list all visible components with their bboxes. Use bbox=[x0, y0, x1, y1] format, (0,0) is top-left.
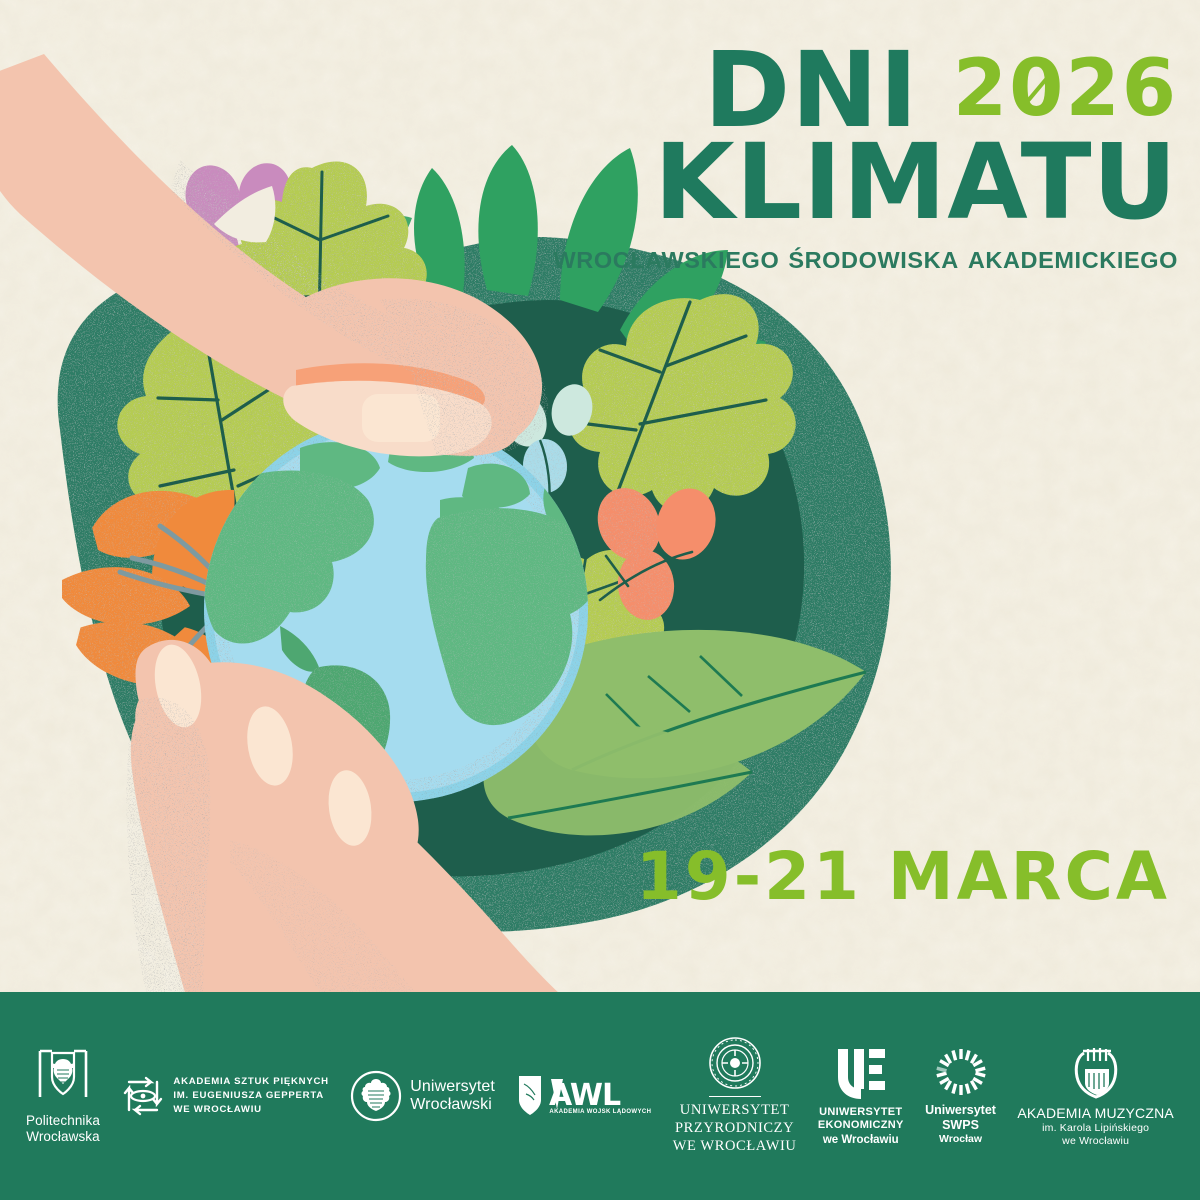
logo-ue-line-3: we Wrocławiu bbox=[818, 1133, 904, 1147]
ue-monogram-icon bbox=[832, 1045, 890, 1101]
subtitle: WROCŁAWSKIEGOŚRODOWISKAAKADEMICKIEGO bbox=[538, 247, 1178, 274]
logo-akademia-sztuk-pieknych[interactable]: AKADEMIA SZTUK PIĘKNYCH IM. EUGENIUSZA G… bbox=[121, 1073, 328, 1119]
logo-asp-line-1: AKADEMIA SZTUK PIĘKNYCH bbox=[173, 1075, 328, 1089]
title-year: 2026 bbox=[953, 58, 1178, 122]
logo-upw-divider bbox=[709, 1096, 761, 1097]
year-digit-3: 2 bbox=[1065, 44, 1121, 134]
logo-swps-text: Uniwersytet SWPS Wrocław bbox=[925, 1103, 996, 1146]
logo-upw-text: UNIWERSYTET PRZYRODNICZY WE WROCŁAWIU bbox=[673, 1102, 797, 1155]
poster-canvas: DNI 2026 KLIMATU WROCŁAWSKIEGOŚRODOWISKA… bbox=[0, 0, 1200, 1200]
logo-politechnika-wroclawska[interactable]: Politechnika Wrocławska bbox=[26, 1047, 100, 1145]
logo-asp-line-3: WE WROCŁAWIU bbox=[173, 1103, 328, 1117]
eagle-shield-icon bbox=[36, 1047, 90, 1107]
year-digit-1: 2 bbox=[953, 44, 1009, 134]
awl-wordmark: AWL bbox=[549, 1077, 649, 1113]
logo-uniwersytet-swps[interactable]: Uniwersytet SWPS Wrocław bbox=[925, 1046, 996, 1146]
logo-politechnika-text: Politechnika Wrocławska bbox=[26, 1113, 100, 1145]
crest-circle-icon bbox=[350, 1070, 402, 1122]
swps-ring-icon bbox=[935, 1046, 987, 1098]
logo-akademia-muzyczna[interactable]: AKADEMIA MUZYCZNA im. Karola Lipińskiego… bbox=[1017, 1043, 1174, 1148]
subtitle-word-3: AKADEMICKIEGO bbox=[968, 247, 1178, 273]
arrows-eye-icon bbox=[121, 1073, 165, 1119]
headline-block: DNI 2026 KLIMATU WROCŁAWSKIEGOŚRODOWISKA… bbox=[538, 48, 1178, 274]
logo-politechnika-line-1: Politechnika bbox=[26, 1113, 100, 1129]
event-date: 19-21 MARCA bbox=[636, 838, 1170, 915]
logo-asp-text: AKADEMIA SZTUK PIĘKNYCH IM. EUGENIUSZA G… bbox=[173, 1075, 328, 1117]
logo-am-text: AKADEMIA MUZYCZNA im. Karola Lipińskiego… bbox=[1017, 1105, 1174, 1148]
partner-logos: Politechnika Wrocławska AKADEMIA SZTUK P… bbox=[0, 992, 1200, 1200]
logo-awl-caption: AKADEMIA WOJSK LĄDOWYCH bbox=[549, 1109, 651, 1115]
seal-circle-icon bbox=[708, 1036, 762, 1090]
logo-uniwersytet-wroclawski[interactable]: Uniwersytet Wrocławski bbox=[350, 1070, 495, 1122]
year-digit-4: 6 bbox=[1122, 44, 1178, 134]
year-digit-2: 0 bbox=[1009, 58, 1065, 122]
logo-swps-line-2: SWPS bbox=[925, 1118, 996, 1133]
subtitle-word-2: ŚRODOWISKA bbox=[788, 247, 959, 273]
logo-upw-line-2: PRZYRODNICZY bbox=[673, 1120, 797, 1138]
logo-uwr-line-1: Uniwersytet bbox=[410, 1078, 495, 1096]
logo-asp-line-2: IM. EUGENIUSZA GEPPERTA bbox=[173, 1089, 328, 1103]
lyre-icon bbox=[1070, 1043, 1122, 1101]
logo-ue-line-1: UNIWERSYTET bbox=[818, 1106, 904, 1120]
awl-shield-icon bbox=[516, 1072, 546, 1120]
logo-swps-line-3: Wrocław bbox=[925, 1133, 996, 1146]
logo-politechnika-line-2: Wrocławska bbox=[26, 1129, 100, 1145]
logo-uniwersytet-przyrodniczy[interactable]: UNIWERSYTET PRZYRODNICZY WE WROCŁAWIU bbox=[673, 1036, 797, 1155]
subtitle-word-1: WROCŁAWSKIEGO bbox=[554, 247, 780, 273]
logo-upw-line-3: WE WROCŁAWIU bbox=[673, 1138, 797, 1156]
logo-uniwersytet-ekonomiczny[interactable]: UNIWERSYTET EKONOMICZNY we Wrocławiu bbox=[818, 1045, 904, 1148]
logo-am-line-1: AKADEMIA MUZYCZNA bbox=[1017, 1105, 1174, 1122]
logo-ue-line-2: EKONOMICZNY bbox=[818, 1119, 904, 1133]
logo-upw-line-1: UNIWERSYTET bbox=[673, 1102, 797, 1120]
logo-swps-line-1: Uniwersytet bbox=[925, 1103, 996, 1118]
logo-am-line-2: im. Karola Lipińskiego bbox=[1017, 1122, 1174, 1135]
logo-uwr-line-2: Wrocławski bbox=[410, 1096, 495, 1114]
footer-bar: Politechnika Wrocławska AKADEMIA SZTUK P… bbox=[0, 992, 1200, 1200]
logo-uwr-text: Uniwersytet Wrocławski bbox=[410, 1078, 495, 1114]
logo-akademia-wojsk-ladowych[interactable]: AWL AKADEMIA WOJSK LĄDOWYCH bbox=[516, 1072, 651, 1120]
title-klimatu: KLIMATU bbox=[538, 135, 1178, 231]
logo-am-line-3: we Wrocławiu bbox=[1017, 1135, 1174, 1148]
logo-ue-text: UNIWERSYTET EKONOMICZNY we Wrocławiu bbox=[818, 1106, 904, 1148]
